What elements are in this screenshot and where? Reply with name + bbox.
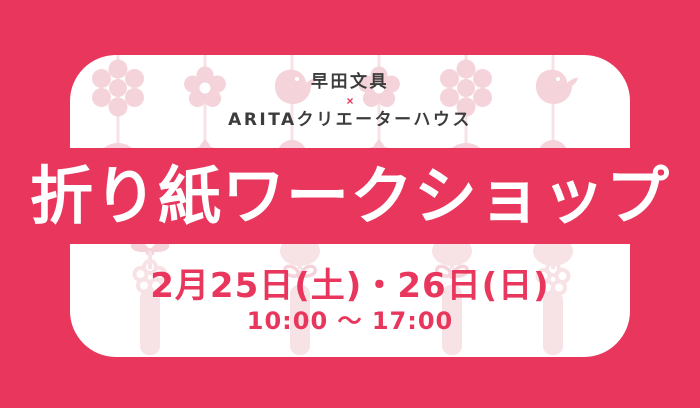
event-time: 10:00 ～ 17:00 (247, 309, 454, 333)
event-date: 2月25日(土)・26日(日) (150, 269, 549, 303)
title-band: 折り紙ワークショップ (0, 148, 700, 244)
poster-canvas: 早田文具 × ARITAクリエーターハウス 折り紙ワークショップ 2月25日(土… (0, 0, 700, 408)
schedule-block: 2月25日(土)・26日(日) 10:00 ～ 17:00 (0, 244, 700, 357)
page-title: 折り紙ワークショップ (30, 165, 670, 228)
organizer-secondary-name: ARITAクリエーターハウス (228, 111, 472, 130)
organizer-primary-name: 早田文具 (311, 73, 389, 92)
collaboration-cross-icon: × (346, 95, 353, 108)
header-block: 早田文具 × ARITAクリエーターハウス (0, 55, 700, 148)
